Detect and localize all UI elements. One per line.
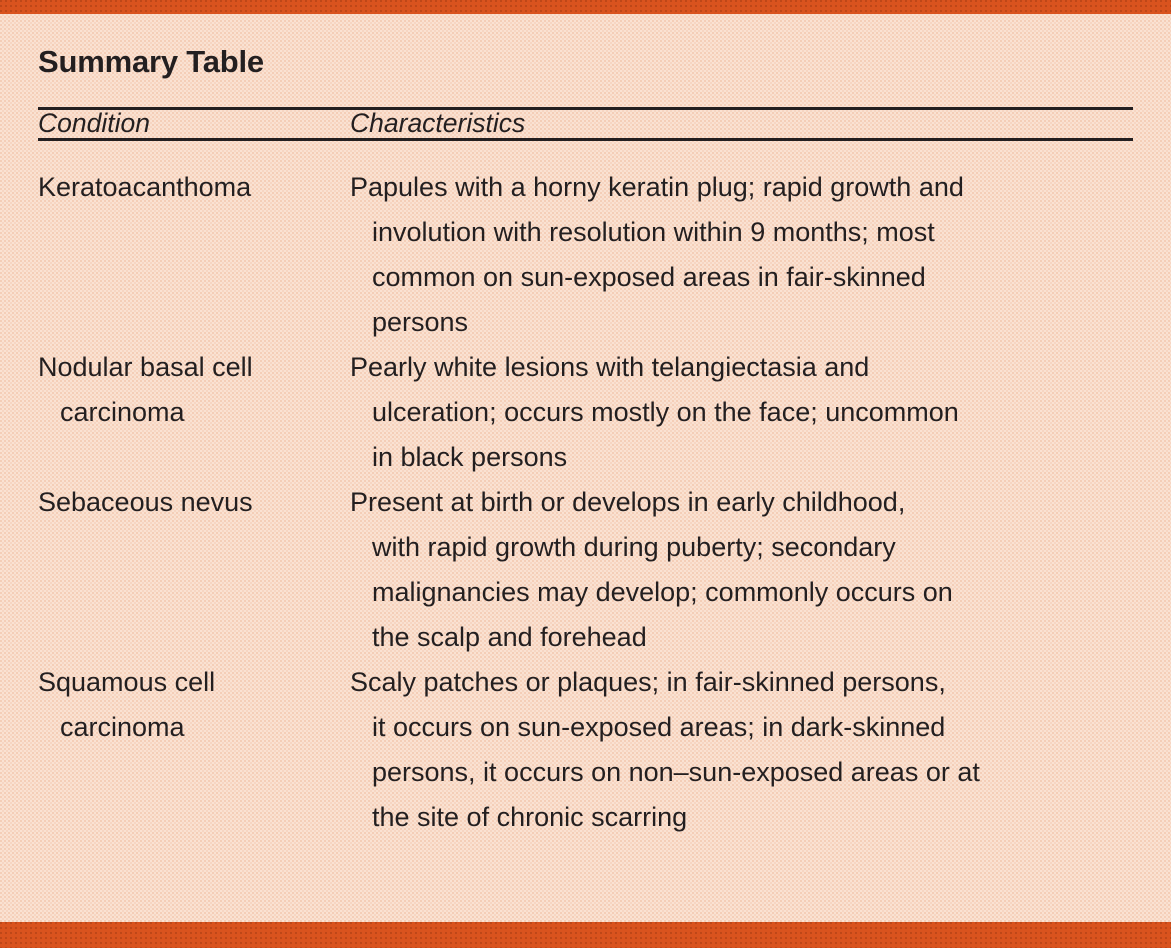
cell-condition: Sebaceous nevus <box>38 480 350 660</box>
cell-characteristics: Pearly white lesions with telangiectasia… <box>350 345 1133 480</box>
cell-condition: Squamous cell carcinoma <box>38 660 350 840</box>
cell-condition: Keratoacanthoma <box>38 141 350 345</box>
table-row: Squamous cell carcinoma Scaly patches or… <box>38 660 1133 840</box>
cell-line: carcinoma <box>60 390 344 435</box>
cell-line: carcinoma <box>60 705 344 750</box>
cell-line: persons <box>372 300 1133 345</box>
cell-condition: Nodular basal cell carcinoma <box>38 345 350 480</box>
cell-line: Keratoacanthoma <box>38 165 344 210</box>
cell-line: common on sun-exposed areas in fair-skin… <box>372 255 1133 300</box>
cell-line: Present at birth or develops in early ch… <box>350 480 1133 525</box>
cell-line: it occurs on sun-exposed areas; in dark-… <box>372 705 1133 750</box>
table-content: Summary Table Condition Characteristics … <box>38 14 1133 840</box>
table-row: Nodular basal cell carcinoma Pearly whit… <box>38 345 1133 480</box>
summary-table: Condition Characteristics Keratoacanthom… <box>38 110 1133 840</box>
cell-line: malignancies may develop; commonly occur… <box>372 570 1133 615</box>
cell-line: Pearly white lesions with telangiectasia… <box>350 345 1133 390</box>
table-row: Keratoacanthoma Papules with a horny ker… <box>38 141 1133 345</box>
bottom-accent-bar <box>0 922 1171 948</box>
cell-line: Squamous cell <box>38 660 344 705</box>
table-header-row: Condition Characteristics <box>38 110 1133 138</box>
cell-line: Sebaceous nevus <box>38 480 344 525</box>
cell-line: involution with resolution within 9 mont… <box>372 210 1133 255</box>
cell-line: Nodular basal cell <box>38 345 344 390</box>
cell-line: Scaly patches or plaques; in fair-skinne… <box>350 660 1133 705</box>
cell-characteristics: Present at birth or develops in early ch… <box>350 480 1133 660</box>
cell-characteristics: Scaly patches or plaques; in fair-skinne… <box>350 660 1133 840</box>
table-body: Keratoacanthoma Papules with a horny ker… <box>38 141 1133 840</box>
table-row: Sebaceous nevus Present at birth or deve… <box>38 480 1133 660</box>
cell-line: ulceration; occurs mostly on the face; u… <box>372 390 1133 435</box>
summary-table-page: Summary Table Condition Characteristics … <box>0 0 1171 948</box>
cell-line: Papules with a horny keratin plug; rapid… <box>350 165 1133 210</box>
page-title: Summary Table <box>38 14 1133 77</box>
table-header: Condition Characteristics <box>38 110 1133 141</box>
cell-line: persons, it occurs on non–sun-exposed ar… <box>372 750 1133 795</box>
cell-line: in black persons <box>372 435 1133 480</box>
cell-characteristics: Papules with a horny keratin plug; rapid… <box>350 141 1133 345</box>
cell-line: with rapid growth during puberty; second… <box>372 525 1133 570</box>
cell-line: the scalp and forehead <box>372 615 1133 660</box>
column-header-condition: Condition <box>38 110 350 138</box>
column-header-characteristics: Characteristics <box>350 110 1133 138</box>
cell-line: the site of chronic scarring <box>372 795 1133 840</box>
top-accent-bar <box>0 0 1171 14</box>
